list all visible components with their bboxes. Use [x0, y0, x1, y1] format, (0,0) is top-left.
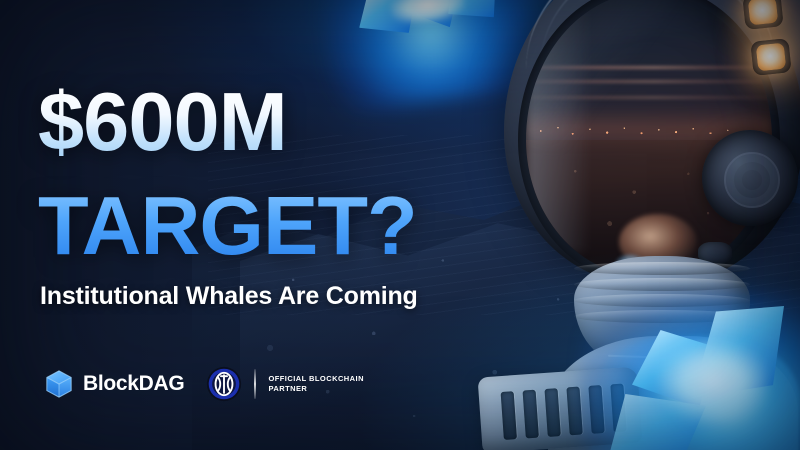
partner-label-line2: PARTNER [268, 384, 364, 394]
promo-banner: $600M TARGET? Institutional Whales Are C… [0, 0, 800, 450]
helmet-lamp-icon [750, 38, 791, 76]
inter-milan-badge-icon [206, 366, 242, 402]
helmet-side-knob [702, 130, 798, 226]
subheadline: Institutional Whales Are Coming [40, 282, 418, 311]
logo-bar: BlockDAG OFFICIAL BLOCKCHAIN PARTNER [44, 366, 364, 402]
blockdag-logo[interactable]: BlockDAG [44, 369, 184, 399]
official-partner-lockup[interactable]: OFFICIAL BLOCKCHAIN PARTNER [206, 366, 364, 402]
logo-divider [254, 369, 256, 399]
partner-label: OFFICIAL BLOCKCHAIN PARTNER [268, 374, 364, 394]
helmet-lamp-icon [742, 0, 783, 30]
blockdag-wordmark: BlockDAG [83, 372, 184, 396]
device-slot [544, 388, 560, 437]
glowing-crystal-bottom-icon [580, 290, 800, 450]
headline-amount: $600M [38, 86, 287, 157]
crystal-core [658, 342, 768, 422]
headline-target: TARGET? [38, 190, 417, 261]
partner-label-line1: OFFICIAL BLOCKCHAIN [268, 374, 364, 384]
device-slot [523, 390, 539, 439]
cube-icon [44, 369, 74, 399]
collar-ring [574, 262, 750, 275]
